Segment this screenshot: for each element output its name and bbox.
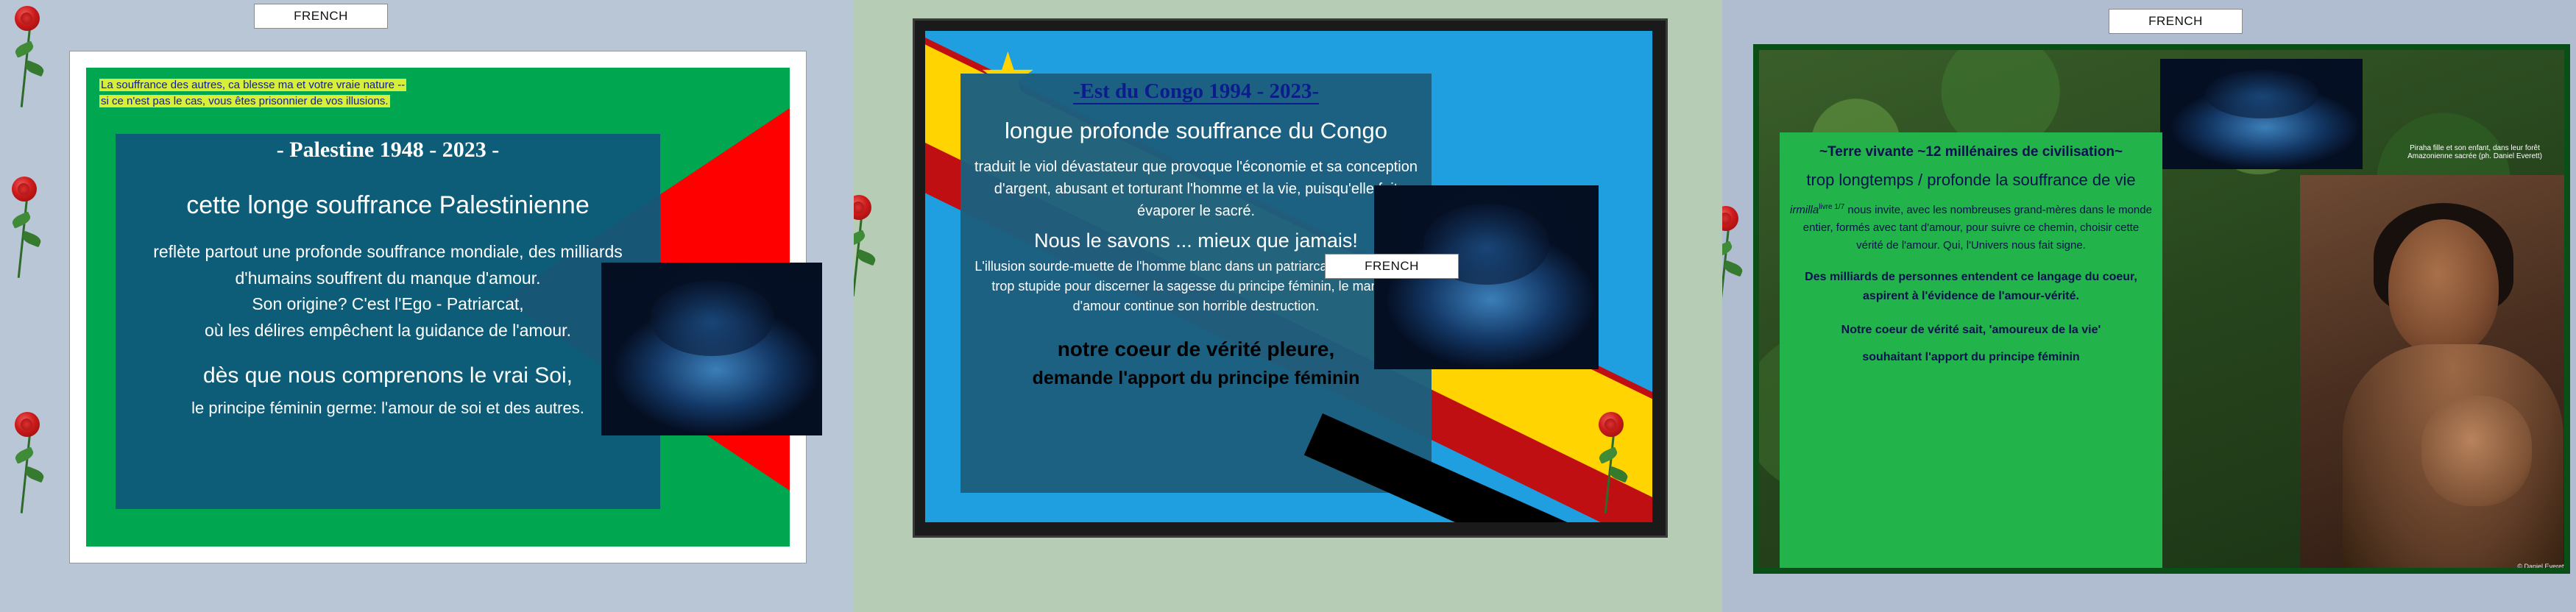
palestine-flag-background: La souffrance des autres, ca blesse ma e… [86,68,790,547]
palestine-line-1: cette longe souffrance Palestinienne [121,191,654,220]
slides-canvas: FRENCH La souffrance des autres, ca bles… [0,0,2576,612]
french-tag-middle[interactable]: FRENCH [1325,254,1459,279]
terre-bold-2b: souhaitant l'apport du principe féminin [1790,347,2152,367]
panel-middle: ★ -Est du Congo 1994 - 2023- longue prof… [854,0,1722,612]
rose-icon [13,412,46,522]
terre-bold-1: Des milliards de personnes entendent ce … [1790,268,2152,305]
terre-paragraph: irmillalivre 1/7 nous invite, avec les n… [1790,202,2152,255]
earth-icon [2160,59,2363,169]
earth-icon [601,263,822,435]
rose-icon [854,195,877,305]
palestine-line-2: reflète partout une profonde souffrance … [121,239,654,291]
congo-body: longue profonde souffrance du Congo trad… [966,113,1426,391]
congo-flag-background: ★ -Est du Congo 1994 - 2023- longue prof… [925,31,1652,522]
palestine-line-4: où les délires empêchent la guidance de … [121,318,654,344]
photo-caption: Piraha fille et son enfant, dans leur fo… [2388,144,2561,160]
terre-paragraph-sup: livre 1/7 [1819,203,1844,211]
rose-icon [13,6,46,116]
congo-title: -Est du Congo 1994 - 2023- [960,79,1432,104]
congo-line-3: Nous le savons ... mieux que jamais! [966,230,1426,252]
congo-line-1: longue profonde souffrance du Congo [966,118,1426,144]
palestine-title: - Palestine 1948 - 2023 - [116,138,660,163]
rose-icon [1597,412,1630,522]
panel-left: FRENCH La souffrance des autres, ca bles… [0,0,854,612]
congo-line-5b: demande l'apport du principe féminin [966,366,1426,391]
banner-line-1: La souffrance des autres, ca blesse ma e… [99,79,406,91]
slide-terre-vivante[interactable]: Piraha fille et son enfant, dans leur fo… [1753,44,2570,574]
terre-bold-2a: Notre coeur de vérité sait, 'amoureux de… [1790,320,2152,340]
photo-credit: © Daniel Everett [2517,563,2564,568]
terre-title: ~Terre vivante ~12 millénaires de civili… [1790,144,2152,160]
terre-subtitle: trop longtemps / profonde la souffrance … [1790,171,2152,190]
terre-vivante-textbox: ~Terre vivante ~12 millénaires de civili… [1780,132,2162,568]
congo-line-2: traduit le viol dévastateur que provoque… [966,156,1426,222]
palestine-line-3: Son origine? C'est l'Ego - Patriarcat, [121,291,654,318]
jungle-photo: Piraha fille et son enfant, dans leur fo… [1759,50,2564,568]
slide-palestine[interactable]: La souffrance des autres, ca blesse ma e… [70,51,806,563]
french-tag-left[interactable]: FRENCH [254,4,388,29]
banner-line-2: si ce n'est pas le cas, vous êtes prison… [99,95,390,107]
slide-congo[interactable]: ★ -Est du Congo 1994 - 2023- longue prof… [913,18,1668,538]
rose-icon [10,177,43,287]
terre-paragraph-italic: irmilla [1790,204,1819,216]
congo-title-text: -Est du Congo 1994 - 2023- [1073,79,1319,104]
congo-line-5a: notre coeur de vérité pleure, [966,335,1426,363]
slide-palestine-frame: La souffrance des autres, ca blesse ma e… [86,68,790,547]
french-tag-right[interactable]: FRENCH [2109,9,2243,34]
palestine-line-6: le principe féminin germe: l'amour de so… [121,396,654,420]
palestine-body: cette longe souffrance Palestinienne ref… [121,178,654,420]
mother-child-photo: © Daniel Everett [2300,175,2564,568]
palestine-banner: La souffrance des autres, ca blesse ma e… [96,75,500,112]
terre-paragraph-text: nous invite, avec les nombreuses grand-m… [1803,204,2152,252]
palestine-line-5: dès que nous comprenons le vrai Soi, [121,363,654,388]
panel-right: FRENCH Piraha fille et son enfant, dans … [1722,0,2576,612]
rose-icon [1722,206,1744,316]
